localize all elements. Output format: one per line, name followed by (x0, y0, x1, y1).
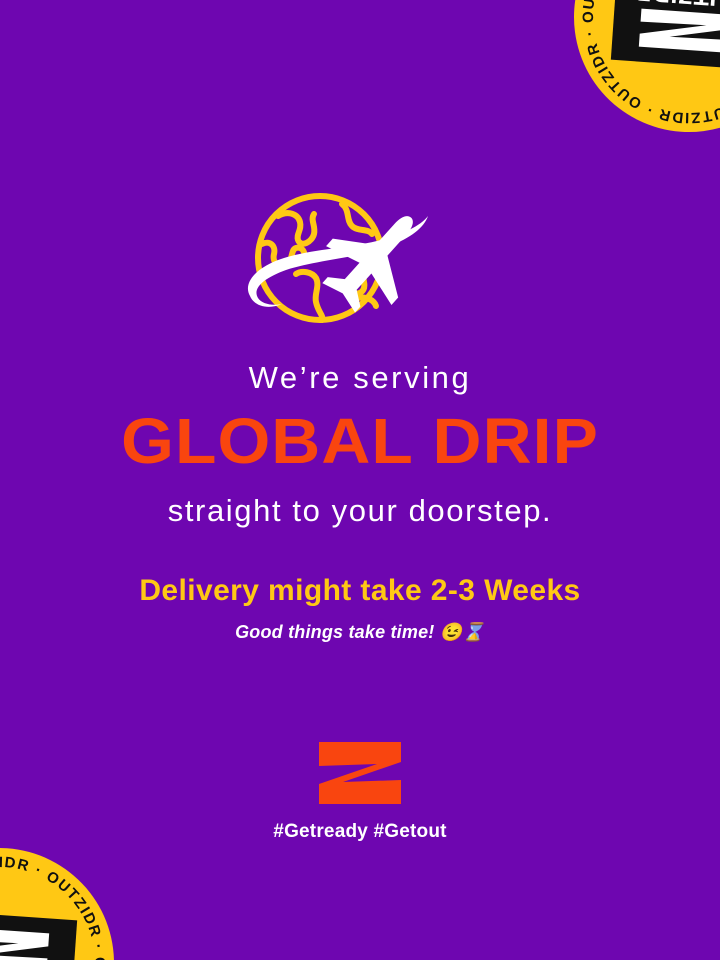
page-title: GLOBAL DRIP (0, 409, 720, 473)
footer-brand: #Getready #Getout (0, 742, 720, 841)
delivery-note: Good things take time! 😉⌛ (0, 623, 720, 641)
post-headline: straight to your doorstep. (0, 495, 720, 526)
brand-badge-top-right: OUTZIDR · OUTZIDR · OUTZIDR · OUTZIDR · … (566, 0, 720, 140)
brand-badge-bottom-left: OUTZIDR · OUTZIDR · OUTZIDR · OUTZIDR · … (0, 840, 122, 960)
brand-tagline: #Getready #Getout (0, 822, 720, 841)
z-logo-icon (0, 924, 53, 960)
z-logo-icon (319, 742, 401, 804)
badge-core: OUTZIDR (611, 0, 720, 70)
delivery-estimate: Delivery might take 2-3 Weeks (0, 576, 720, 606)
z-logo-icon (635, 6, 720, 55)
globe-and-plane-illustration (238, 178, 482, 342)
pre-headline: We’re serving (0, 362, 720, 393)
poster-copy: We’re serving GLOBAL DRIP straight to yo… (0, 362, 720, 641)
promo-poster: OUTZIDR · OUTZIDR · OUTZIDR · OUTZIDR · … (0, 0, 720, 960)
